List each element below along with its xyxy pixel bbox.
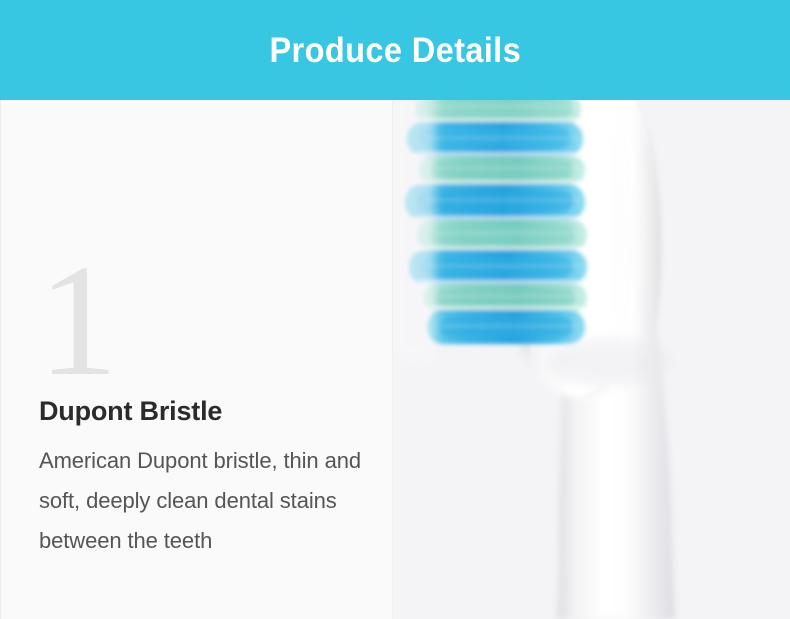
page-header-band: Produce Details [0,0,790,100]
left-edge-rule [0,100,1,619]
feature-number: 1 [38,240,118,400]
toothbrush-head-image [393,100,790,619]
toothbrush-illustration [393,100,790,619]
page-title: Produce Details [269,33,521,68]
feature-headline: Dupont Bristle [39,397,222,427]
product-photo-panel [393,100,790,619]
product-detail-page: Produce Details 1 Dupont Bristle America… [0,0,790,619]
head-neck-shadow [547,338,671,386]
bristle-tip-blur [393,100,435,360]
bristle-row [409,250,587,284]
content-area: 1 Dupont Bristle American Dupont bristle… [0,100,790,619]
bristle-row [419,156,585,184]
feature-description: American Dupont bristle, thin and soft, … [39,441,394,561]
bristle-row [417,220,587,250]
bristle-row [427,310,585,344]
feature-text-panel: 1 Dupont Bristle American Dupont bristle… [0,100,393,619]
